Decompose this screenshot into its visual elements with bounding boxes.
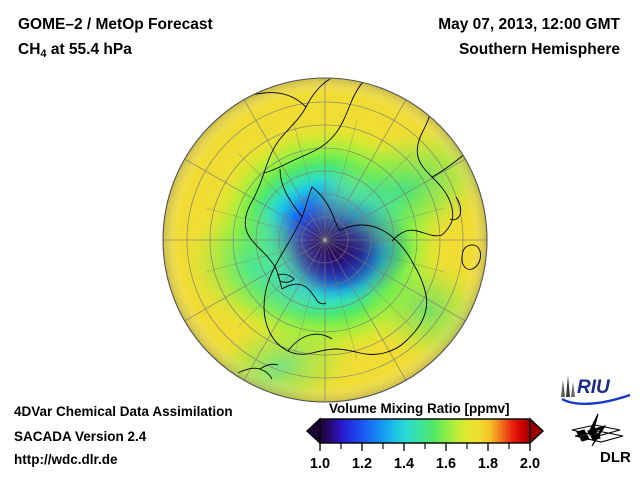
colorbar-min-arrow (307, 419, 320, 443)
riu-logo-text: RIU (577, 377, 611, 398)
footer-method: 4DVar Chemical Data Assimilation (14, 404, 233, 419)
dlr-logo: DLR (568, 412, 632, 470)
page-title-instrument: GOME–2 / MetOp Forecast (18, 16, 213, 34)
footer-url: http://wdc.dlr.de (14, 452, 118, 467)
dlr-logo-svg: DLR (568, 412, 632, 470)
species-suffix: at 55.4 hPa (47, 41, 132, 58)
south-pole-marker (323, 238, 327, 242)
page-title-species: CH4 at 55.4 hPa (18, 41, 132, 59)
colorbar-tick-label: 2.0 (520, 456, 540, 472)
timestamp-label: May 07, 2013, 12:00 GMT (438, 16, 620, 34)
colorbar-ramp (320, 419, 530, 443)
dlr-mark-icon (572, 414, 623, 446)
polar-map (160, 77, 490, 407)
colorbar-svg: 1.0 1.2 1.4 1.6 1.8 2.0 (305, 417, 545, 475)
colorbar-tick-label: 1.0 (310, 456, 330, 472)
colorbar-max-arrow (530, 419, 543, 443)
footer-version: SACADA Version 2.4 (14, 429, 146, 444)
riu-logo-svg: RIU (558, 373, 634, 407)
dlr-logo-text: DLR (600, 449, 631, 466)
colorbar-title: Volume Mixing Ratio [ppmv] (329, 401, 510, 416)
colorbar-tick-label: 1.8 (478, 456, 498, 472)
colorbar-tick-label: 1.4 (394, 456, 414, 472)
colorbar-tick-labels: 1.0 1.2 1.4 1.6 1.8 2.0 (310, 456, 540, 472)
species-subscript: 4 (40, 48, 46, 60)
colorbar-tick-label: 1.2 (352, 456, 372, 472)
colorbar-tick-label: 1.6 (436, 456, 456, 472)
riu-tower-icon (561, 375, 575, 397)
colorbar: 1.0 1.2 1.4 1.6 1.8 2.0 (305, 417, 545, 475)
hemisphere-label: Southern Hemisphere (459, 41, 620, 59)
colorbar-minor-ticks (341, 443, 509, 449)
riu-logo: RIU (558, 373, 634, 407)
polar-map-svg (160, 77, 490, 407)
species-prefix: CH (18, 41, 40, 58)
